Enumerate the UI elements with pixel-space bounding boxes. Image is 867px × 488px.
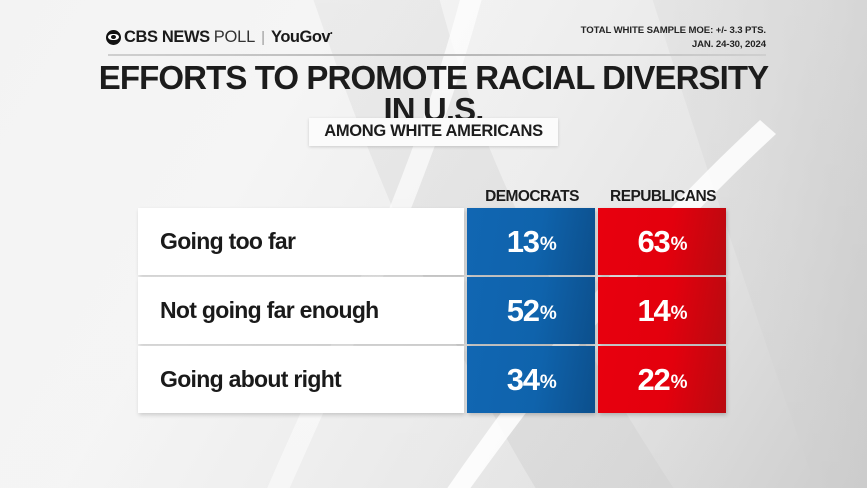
percent-sign: % <box>671 235 687 254</box>
democrat-value-cell: 13% <box>467 208 595 275</box>
republican-value-cell: 63% <box>598 208 726 275</box>
percent-sign: % <box>540 304 556 323</box>
table-row: Not going far enough 52% 14% <box>138 277 726 344</box>
republican-value: 14 <box>638 295 670 326</box>
row-label-cell: Going too far <box>138 208 464 275</box>
table-row: Going about right 34% 22% <box>138 346 726 413</box>
yougov-partner-logo: YouGov• <box>271 28 332 47</box>
democrat-value-cell: 52% <box>467 277 595 344</box>
margin-of-error-note: TOTAL WHITE SAMPLE MOE: +/- 3.3 PTS. JAN… <box>581 24 766 51</box>
brand-bold-text: CBS NEWS <box>124 28 210 47</box>
header-row: CBS NEWS POLL | YouGov• TOTAL WHITE SAMP… <box>0 26 867 50</box>
percent-sign: % <box>540 373 556 392</box>
row-label-cell: Not going far enough <box>138 277 464 344</box>
percent-sign: % <box>671 373 687 392</box>
brand-light-text: POLL <box>214 28 255 47</box>
democrat-value: 34 <box>507 364 539 395</box>
row-label-text: Going about right <box>138 366 341 393</box>
democrat-value: 13 <box>507 226 539 257</box>
republican-value-cell: 14% <box>598 277 726 344</box>
brand-separator: | <box>261 29 265 46</box>
subtitle-badge: AMONG WHITE AMERICANS <box>309 118 558 146</box>
row-label-text: Going too far <box>138 228 295 255</box>
row-label-cell: Going about right <box>138 346 464 413</box>
moe-line-2: JAN. 24-30, 2024 <box>581 38 766 52</box>
header-divider <box>108 54 766 56</box>
republican-value: 63 <box>638 226 670 257</box>
column-header-republicans: REPUBLICANS <box>598 188 728 206</box>
table-row: Going too far 13% 63% <box>138 208 726 275</box>
percent-sign: % <box>671 304 687 323</box>
democrat-value: 52 <box>507 295 539 326</box>
page-title: EFFORTS TO PROMOTE RACIAL DIVERSITY IN U… <box>0 62 867 126</box>
yougov-text: YouGov <box>271 28 330 46</box>
democrat-value-cell: 34% <box>467 346 595 413</box>
percent-sign: % <box>540 235 556 254</box>
poll-graphic: CBS NEWS POLL | YouGov• TOTAL WHITE SAMP… <box>0 0 867 488</box>
results-table: Going too far 13% 63% Not going far enou… <box>138 208 726 415</box>
column-header-democrats: DEMOCRATS <box>466 188 598 206</box>
row-label-text: Not going far enough <box>138 297 379 324</box>
republican-value-cell: 22% <box>598 346 726 413</box>
republican-value: 22 <box>638 364 670 395</box>
cbs-eye-icon <box>106 30 121 45</box>
subtitle-container: AMONG WHITE AMERICANS <box>0 118 867 146</box>
moe-line-1: TOTAL WHITE SAMPLE MOE: +/- 3.3 PTS. <box>581 24 766 38</box>
trademark-icon: • <box>330 30 332 37</box>
cbs-news-poll-logo: CBS NEWS POLL | YouGov• <box>106 26 332 48</box>
